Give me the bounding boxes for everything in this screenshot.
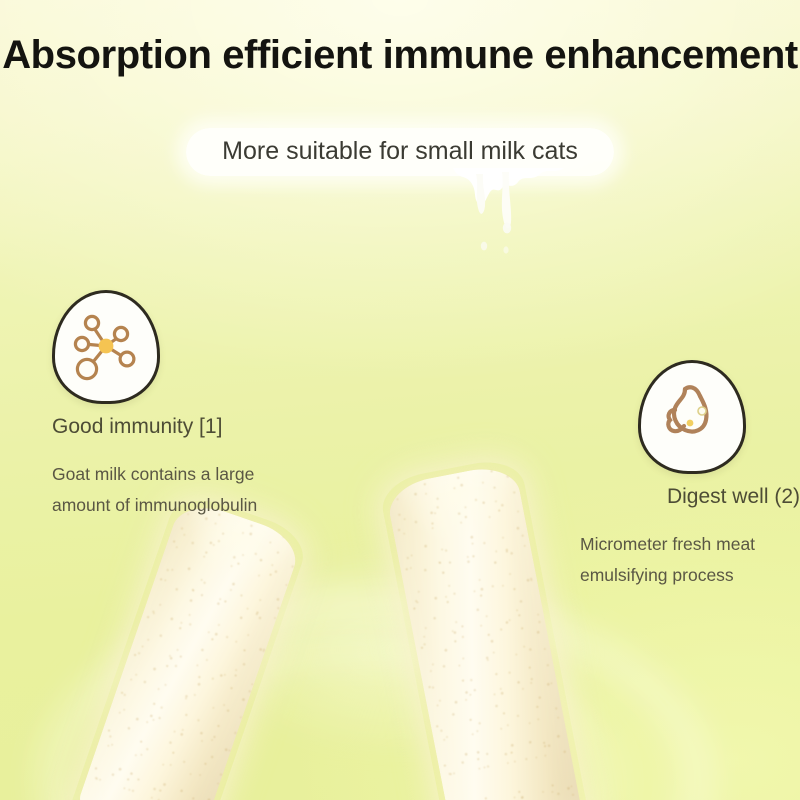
subtitle-pill-container: More suitable for small milk cats <box>0 128 800 176</box>
feature-title-good-immunity: Good immunity [1] <box>52 415 352 439</box>
molecule-icon <box>52 290 160 404</box>
stomach-icon <box>638 360 746 474</box>
feature-body-line: emulsifying process <box>580 560 800 591</box>
feature-body-line: Micrometer fresh meat <box>580 529 800 560</box>
page-title: Absorption efficient immune enhancement <box>0 33 800 78</box>
feature-body-line: Goat milk contains a large <box>52 459 352 490</box>
milk-drip-icon <box>446 168 576 288</box>
feature-body-good-immunity: Goat milk contains a large amount of imm… <box>52 459 352 521</box>
feature-body-line: amount of immunoglobulin <box>52 490 352 521</box>
feature-title-digest-well: Digest well (2) <box>580 485 800 509</box>
feature-body-digest-well: Micrometer fresh meat emulsifying proces… <box>580 529 800 591</box>
feature-digest-well: Digest well (2) Micrometer fresh meat em… <box>580 360 800 591</box>
product-feature-banner: Absorption efficient immune enhancement … <box>0 0 800 800</box>
feature-good-immunity: Good immunity [1] Goat milk contains a l… <box>52 290 352 521</box>
